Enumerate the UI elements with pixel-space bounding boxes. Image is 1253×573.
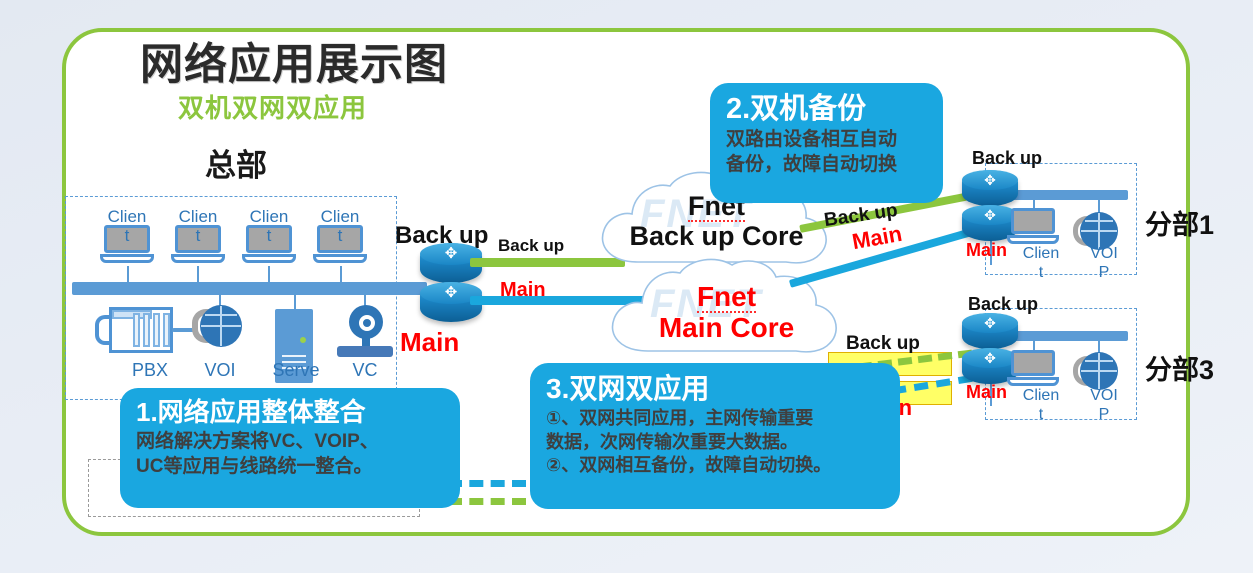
server-led xyxy=(300,337,306,343)
client-droplink xyxy=(340,266,342,284)
branch-1-backup-label: Back up xyxy=(972,148,1042,169)
client-droplink xyxy=(268,266,270,284)
diagram-canvas: 网络应用展示图 双机双网双应用 总部 Clien t Clien t Clien… xyxy=(0,0,1253,573)
branch-3-client-label: Clien t xyxy=(1013,386,1069,424)
laptop-base xyxy=(313,254,367,263)
router-arrows-icon: ✥ xyxy=(434,246,468,262)
page-title: 网络应用展示图 xyxy=(140,30,448,92)
laptop-base xyxy=(1007,377,1059,386)
laptop-base xyxy=(171,254,225,263)
laptop-base xyxy=(1007,235,1059,244)
branch-1-client-label: Clien t xyxy=(1013,244,1069,282)
headquarters-backbone xyxy=(72,282,427,295)
pbx-icon xyxy=(95,307,173,353)
device-label-voip: VOI xyxy=(187,360,253,381)
client-droplink xyxy=(127,266,129,284)
branch-3-voip-label: VOI P xyxy=(1076,386,1132,424)
camera-base xyxy=(337,346,393,357)
branch-1-title: 分部1 xyxy=(1145,203,1214,242)
globe-meridian xyxy=(1085,360,1113,362)
router-arrows-icon: ✥ xyxy=(974,172,1006,188)
callout-2-body: 双路由设备相互自动 备份，故障自动切换 xyxy=(726,128,927,177)
globe-meridian xyxy=(220,306,222,346)
router-arrows-icon: ✥ xyxy=(974,207,1006,223)
router-arrows-icon: ✥ xyxy=(434,285,468,301)
pbx-slot xyxy=(133,313,140,347)
voip-icon xyxy=(192,305,242,355)
vc-camera-icon xyxy=(337,305,393,363)
laptop-base xyxy=(100,254,154,263)
branch-3-title: 分部3 xyxy=(1145,348,1214,387)
branch-1-main-label: Main xyxy=(966,240,1007,261)
link-bottom-backup xyxy=(448,498,526,505)
page-subtitle: 双机双网双应用 xyxy=(178,88,367,125)
link-hq-backup-label: Back up xyxy=(498,236,564,256)
link-branch3-backup-label: Back up xyxy=(846,333,920,355)
device-label-pbx: PBX xyxy=(110,360,190,381)
callout-3[interactable]: 3.双网双应用 ①、双网共同应用，主网传输重要 数据，次网传输次重要大数据。 ②… xyxy=(530,363,900,509)
handset-shape xyxy=(95,315,109,345)
branch-3-backup-label: Back up xyxy=(968,294,1038,315)
client-label: Clien t xyxy=(312,207,368,245)
callout-3-title: 3.双网双应用 xyxy=(546,373,884,405)
pbx-slot xyxy=(163,313,170,347)
device-label-vc: VC xyxy=(337,360,393,381)
laptop-base xyxy=(242,254,296,263)
branch-1-router-backup: ✥ xyxy=(962,170,1018,206)
branch-3-client-laptop xyxy=(1007,350,1059,390)
globe-meridian xyxy=(1085,220,1113,222)
link-hq-main-label: Main xyxy=(500,279,546,302)
router-arrows-icon: ✥ xyxy=(974,315,1006,331)
main-core-line1: Fnet xyxy=(697,282,756,313)
router-arrows-icon: ✥ xyxy=(974,350,1006,366)
callout-3-body: ①、双网共同应用，主网传输重要 数据，次网传输次重要大数据。 ②、双网相互备份，… xyxy=(546,407,884,477)
client-label: Clien t xyxy=(170,207,226,245)
client-label: Clien t xyxy=(241,207,297,245)
client-droplink xyxy=(197,266,199,284)
pbx-slot xyxy=(143,313,150,347)
callout-1-body: 网络解决方案将VC、VOIP、 UC等应用与线路统一整合。 xyxy=(136,430,444,479)
pbx-slot xyxy=(153,313,160,347)
server-vent xyxy=(282,355,306,357)
branch-3-router-main-label: Main xyxy=(966,382,1007,403)
client-label: Clien t xyxy=(99,207,155,245)
main-core-line2: Main Core xyxy=(604,313,849,342)
device-label-server: Serve xyxy=(256,360,336,381)
laptop-screen xyxy=(1011,208,1055,234)
callout-1[interactable]: 1.网络应用整体整合 网络解决方案将VC、VOIP、 UC等应用与线路统一整合。 xyxy=(120,388,460,508)
callout-2[interactable]: 2.双机备份 双路由设备相互自动 备份，故障自动切换 xyxy=(710,83,943,203)
callout-1-title: 1.网络应用整体整合 xyxy=(136,398,444,428)
branch-1-voip-label: VOI P xyxy=(1076,244,1132,282)
laptop-screen xyxy=(1011,350,1055,376)
globe-meridian xyxy=(205,314,237,316)
globe-meridian xyxy=(1098,353,1100,389)
branch-1-client-laptop xyxy=(1007,208,1059,248)
main-core-label: Fnet Main Core xyxy=(604,282,849,343)
callout-2-title: 2.双机备份 xyxy=(726,93,927,126)
branch-3-router-backup: ✥ xyxy=(962,313,1018,349)
hq-router-main-label: Main xyxy=(400,327,459,358)
camera-lens xyxy=(359,315,375,331)
headquarters-title: 总部 xyxy=(205,140,267,185)
